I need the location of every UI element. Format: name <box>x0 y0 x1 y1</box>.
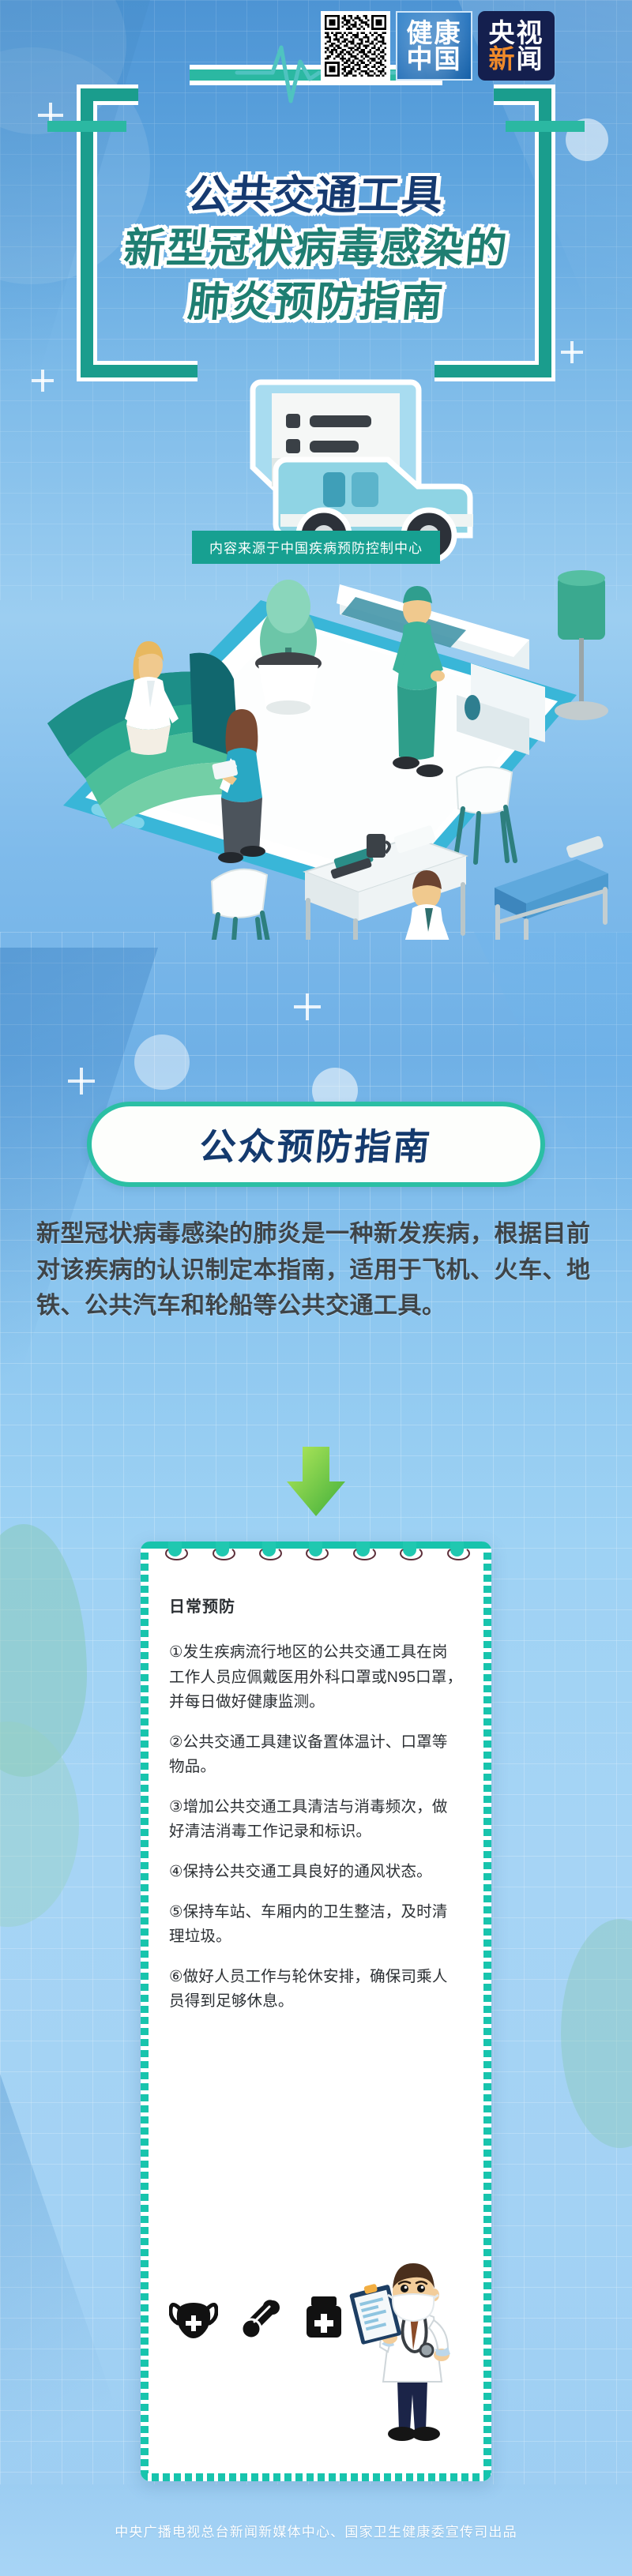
title-line-1: 公共交通工具 <box>0 172 632 220</box>
decor-wedge-left-mid <box>0 948 158 1437</box>
decor-leaf-right <box>561 1919 632 2148</box>
decor-leaf-left-2 <box>0 1722 79 1927</box>
decor-circle-4 <box>134 1035 190 1090</box>
binding-ring <box>216 1541 229 1556</box>
advice-item-4: ④保持公共交通工具良好的通风状态。 <box>169 1860 463 1885</box>
intro-paragraph: 新型冠状病毒感染的肺炎是一种新发疾病，根据目前对该疾病的认识制定本指南，适用于飞… <box>36 1216 599 1324</box>
binding-ring <box>403 1541 416 1556</box>
potted-plant <box>255 580 322 715</box>
advice-item-3: ③增加公共交通工具清洁与消毒频次，做好清洁消毒工作记录和标识。 <box>169 1795 463 1845</box>
decor-wedge-bottom <box>0 2074 142 2484</box>
source-banner: 内容来源于中国疾病预防控制中心 <box>192 531 440 564</box>
advice-item-5: ⑤保持车站、车厢内的卫生整洁，及时清理垃圾。 <box>169 1900 463 1950</box>
spiral-binding <box>141 1541 491 1573</box>
brand-logo-row: 健康 中国 央视 新闻 <box>321 11 555 81</box>
prevention-card: 日常预防 ①发生疾病流行地区的公共交通工具在岗工作人员应佩戴医用外科口罩或N95… <box>141 1541 491 2481</box>
title-line-3: 肺炎预防指南 <box>0 279 632 327</box>
infographic-poster: 健康 中国 央视 新闻 <box>0 0 632 2576</box>
medicine-bottle-icon <box>302 2295 346 2341</box>
health-logo-line1: 健康 <box>407 20 462 46</box>
advice-item-2: ②公共交通工具建议备置体温计、口罩等物品。 <box>169 1730 463 1780</box>
card-edge-left <box>141 1541 149 2481</box>
card-edge-right <box>483 1541 491 2481</box>
hero-title: 公共交通工具 新型冠状病毒感染的 肺炎预防指南 <box>0 172 632 327</box>
decor-leaf-left <box>0 1524 87 1777</box>
decor-wedge-right-mid <box>474 932 632 1264</box>
chair-2 <box>210 869 272 940</box>
advice-item-1: ①发生疾病流行地区的公共交通工具在岗工作人员应佩戴医用外科口罩或N95口罩，并每… <box>169 1640 463 1715</box>
decor-plus-4 <box>294 993 321 1020</box>
health-china-logo[interactable]: 健康 中国 <box>396 11 472 81</box>
thermometer-icon <box>239 2296 281 2341</box>
cctv-logo-wen: 闻 <box>517 44 544 73</box>
cctv-logo-line2: 新闻 <box>489 46 544 72</box>
card-heading: 日常预防 <box>169 1594 463 1617</box>
arrow-down-icon <box>285 1447 347 1518</box>
doctor-illustration <box>342 2262 480 2451</box>
binding-ring <box>450 1541 464 1556</box>
cctv-logo-xin: 新 <box>489 44 517 73</box>
footer-credit: 中央广播电视总台新闻新媒体中心、国家卫生健康委宣传司出品 <box>115 2521 517 2540</box>
section-heading-pill: 公众预防指南 <box>87 1102 545 1187</box>
face-mask-icon <box>169 2300 218 2341</box>
advice-item-6: ⑥做好人员工作与轮休安排，确保司乘人员得到足够休息。 <box>169 1965 463 2015</box>
title-line-2: 新型冠状病毒感染的 <box>0 225 632 273</box>
cctv-logo-line1: 央视 <box>489 20 544 46</box>
qr-code-icon[interactable] <box>321 11 390 81</box>
binding-ring <box>356 1541 370 1556</box>
section-heading-text: 公众预防指南 <box>197 1118 434 1170</box>
health-logo-line2: 中国 <box>407 46 462 72</box>
footer-bar: 中央广播电视总台新闻新媒体中心、国家卫生健康委宣传司出品 <box>0 2484 632 2576</box>
cctv-news-logo[interactable]: 央视 新闻 <box>478 11 555 81</box>
binding-ring <box>262 1541 276 1556</box>
hospital-reception-illustration <box>24 569 608 940</box>
supply-icons-row <box>169 2295 346 2341</box>
binding-ring <box>168 1541 182 1556</box>
binding-ring <box>309 1541 322 1556</box>
card-edge-bottom <box>141 2473 491 2481</box>
chair-1 <box>455 767 515 862</box>
decor-plus-5 <box>68 1068 95 1095</box>
